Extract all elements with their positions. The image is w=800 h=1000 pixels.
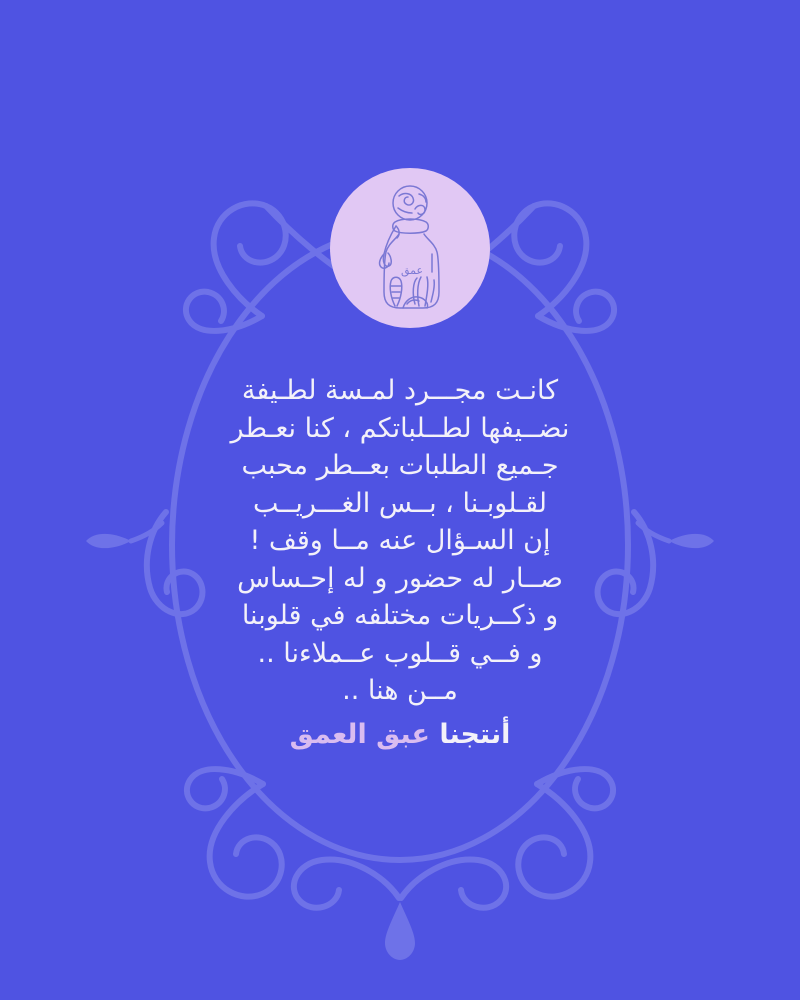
flourish-top-left: [186, 203, 352, 331]
signature-prefix: أنتجنا: [439, 719, 510, 750]
brand-name: عبق العمق: [290, 719, 430, 750]
message-line: مــن هنا ..: [100, 672, 700, 710]
stopper-swirls-3: [398, 208, 412, 213]
poster-canvas: عمق كانـت مجـــرد لمـسة لطـيفة نضــيفها …: [0, 0, 800, 1000]
flourish-bottom-right: [518, 769, 613, 897]
stopper-swirls: [399, 194, 413, 206]
message-line: صــار له حضور و له إحـساس: [100, 560, 700, 598]
message-line: كانـت مجـــرد لمـسة لطـيفة: [100, 372, 700, 410]
bottle-collar: [393, 219, 429, 233]
message-line: لقـلوبـنا ، بــس الغـــريــب: [100, 485, 700, 523]
message-block: كانـت مجـــرد لمـسة لطـيفة نضــيفها لطــ…: [100, 372, 700, 755]
message-line: و ذكــريات مختلفه في قلوبنا: [100, 597, 700, 635]
flourish-bottom-left: [187, 769, 282, 897]
bottle-word: عمق: [401, 264, 423, 278]
message-line: و فــي قــلوب عــملاءنا ..: [100, 635, 700, 673]
perfume-bottle-icon: عمق: [355, 182, 465, 314]
message-line: إن السـؤال عنه مــا وقف !: [100, 522, 700, 560]
brand-logo-badge: عمق: [330, 168, 490, 328]
droplet-bottom: [385, 902, 415, 960]
bottle-botanicals: [390, 277, 434, 308]
message-line: نضــيفها لطــلباتكم ، كنا نعـطر: [100, 410, 700, 448]
stopper-swirls-2: [415, 205, 425, 214]
message-line: جـميع الطلبات بعــطر محبب: [100, 447, 700, 485]
signature-line: أنتجنا عبق العمق: [100, 715, 700, 755]
flourish-bottom-center: [294, 859, 506, 960]
